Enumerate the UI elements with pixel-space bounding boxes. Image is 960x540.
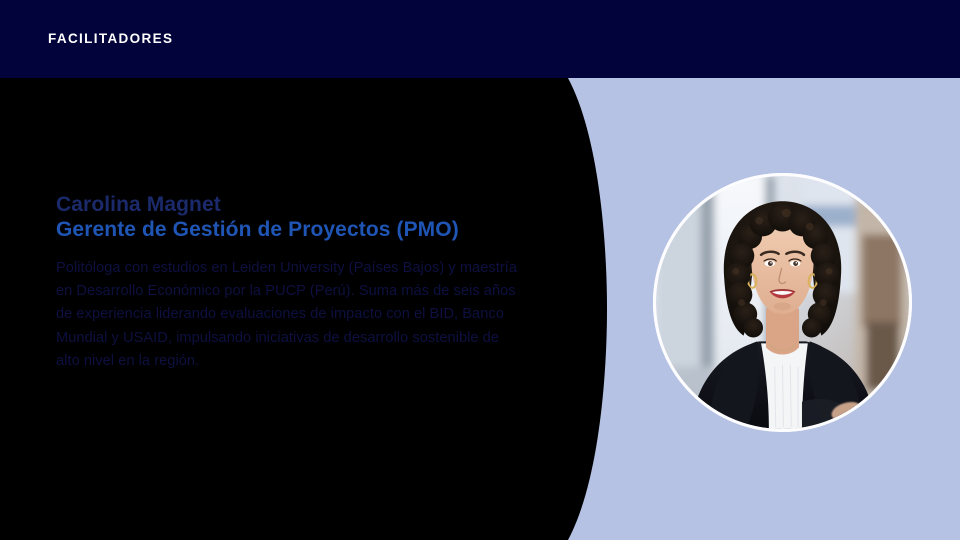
profile-text-block: Carolina Magnet Gerente de Gestión de Pr… — [56, 192, 526, 373]
header-bar: FACILITADORES — [0, 0, 960, 78]
slide-canvas: FACILITADORES Carolina Magnet Gerente de… — [0, 0, 960, 540]
profile-role: Gerente de Gestión de Proyectos (PMO) — [56, 217, 526, 243]
portrait-photo — [656, 176, 909, 429]
profile-name: Carolina Magnet — [56, 192, 526, 217]
profile-portrait — [653, 173, 912, 432]
header-section-label: FACILITADORES — [48, 31, 173, 47]
profile-biography: Politóloga con estudios en Leiden Univer… — [56, 257, 518, 373]
